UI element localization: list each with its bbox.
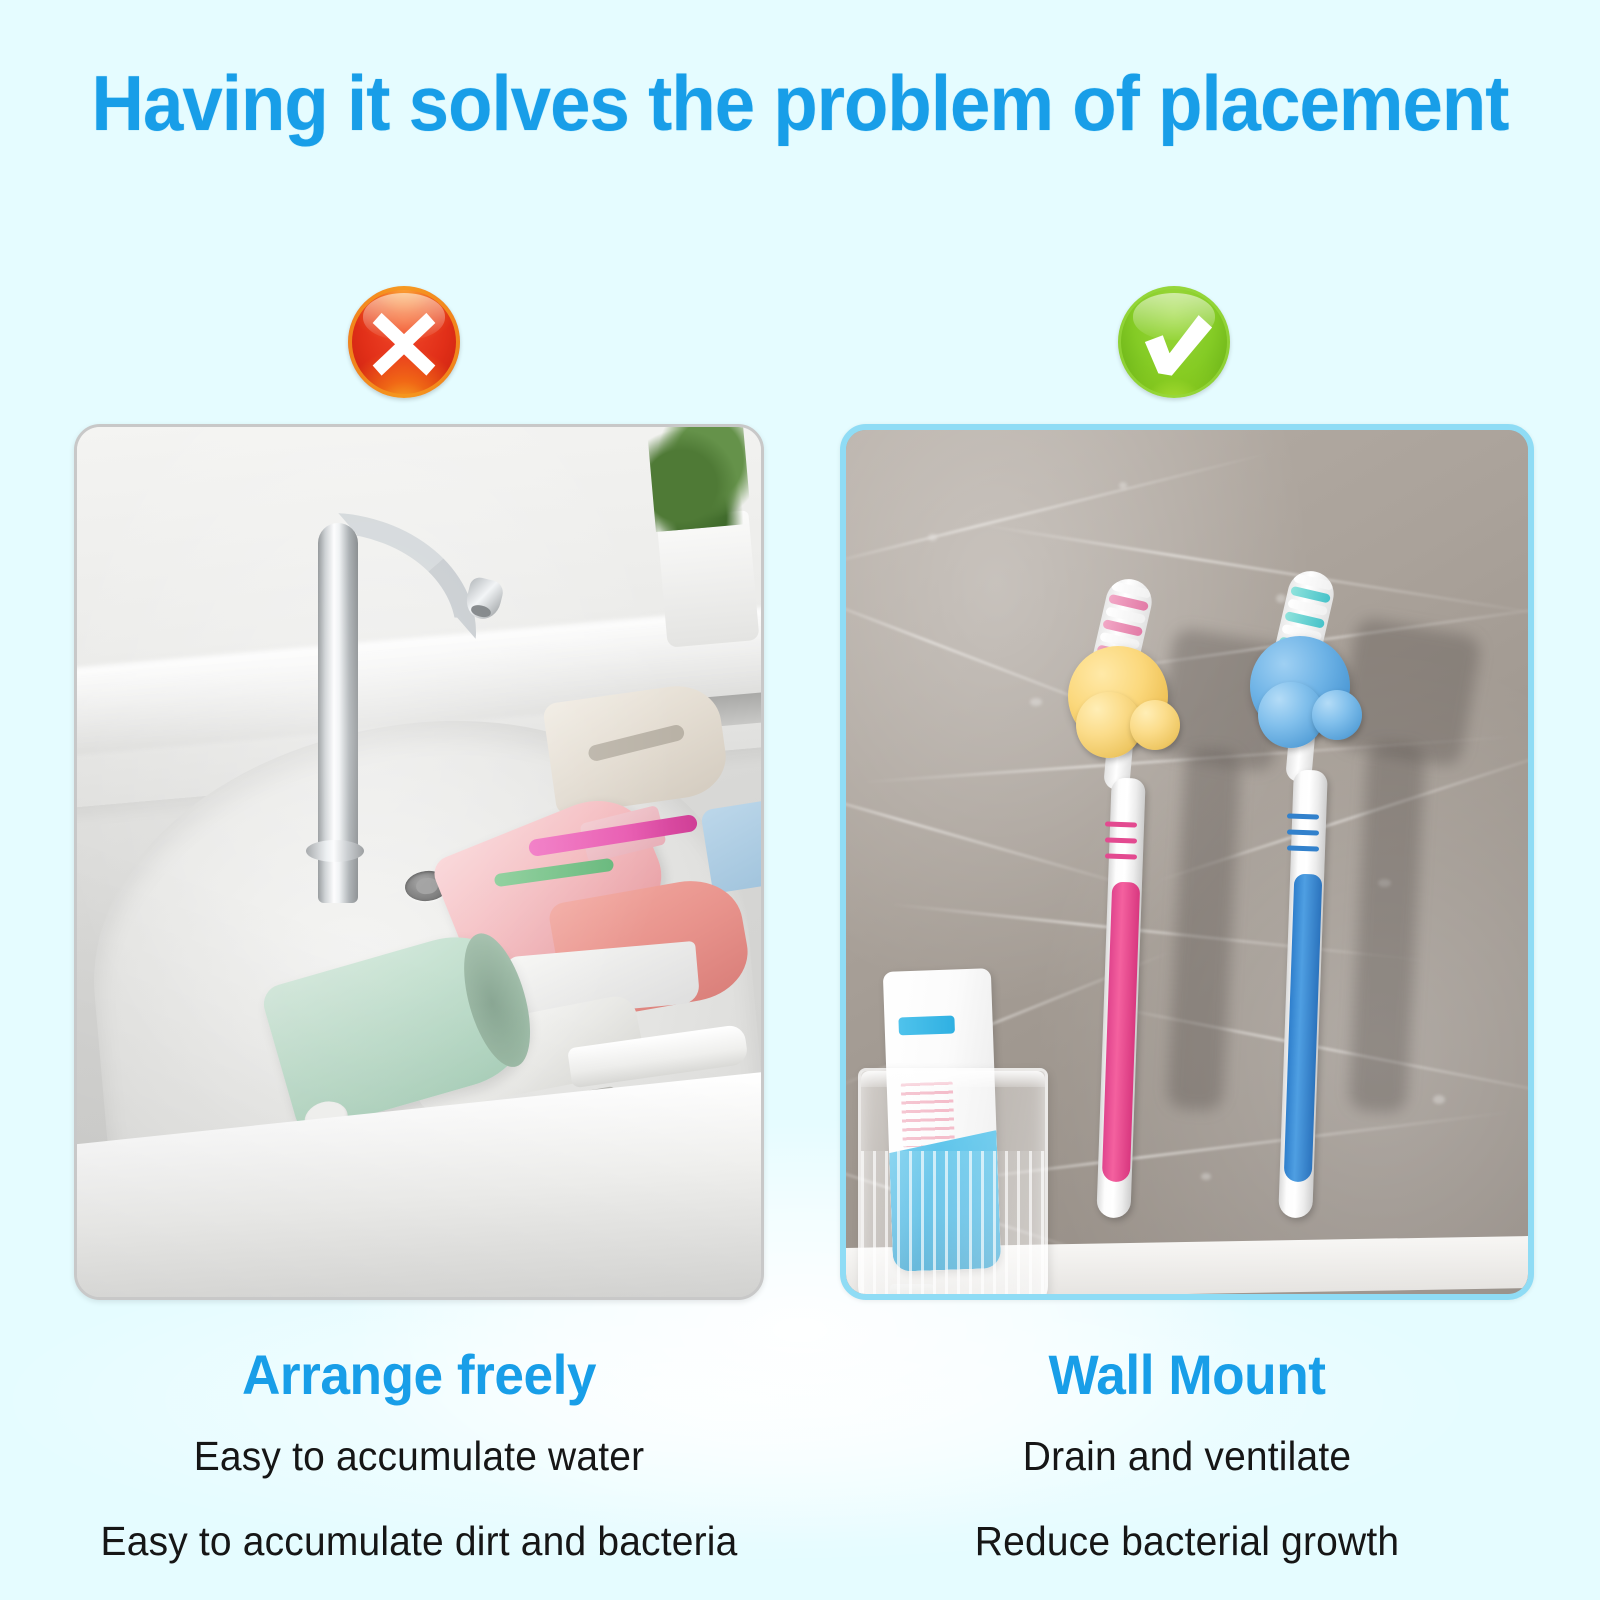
toothpaste-logo xyxy=(898,1016,955,1036)
caption-good: Wall Mount Drain and ventilate Reduce ba… xyxy=(842,1342,1532,1565)
comparison-column-bad xyxy=(74,424,764,1300)
toothbrush-blue-ring-2 xyxy=(1287,829,1319,835)
check-icon xyxy=(1118,286,1230,398)
toothbrush-blue-ring-1 xyxy=(1287,813,1319,819)
holder-clip-blue-lobe-2 xyxy=(1312,690,1362,740)
caption-good-line-2: Reduce bacterial growth xyxy=(859,1518,1515,1565)
caption-bad-line-1: Easy to accumulate water xyxy=(91,1433,747,1480)
wall-mount-photo xyxy=(840,424,1534,1300)
check-badge xyxy=(1118,286,1230,398)
caption-bad-line-2: Easy to accumulate dirt and bacteria xyxy=(91,1518,747,1565)
holder-clip-blue[interactable] xyxy=(1250,636,1380,766)
drinking-glass xyxy=(858,1068,1048,1294)
toothbrush-blue-ring-3 xyxy=(1287,845,1319,851)
sink-clutter-photo xyxy=(74,424,764,1300)
beige-cup-slot xyxy=(586,723,685,762)
toothbrush-pink-ring-1 xyxy=(1105,821,1137,827)
holder-clip-yellow[interactable] xyxy=(1068,646,1198,776)
holder-clip-yellow-lobe-2 xyxy=(1130,700,1180,750)
caption-bad-title: Arrange freely xyxy=(91,1342,747,1407)
caption-good-line-1: Drain and ventilate xyxy=(859,1433,1515,1480)
caption-bad: Arrange freely Easy to accumulate water … xyxy=(74,1342,764,1565)
drinking-glass-ribs xyxy=(861,1151,1045,1294)
drinking-glass-rim xyxy=(861,1071,1045,1087)
cross-icon xyxy=(348,286,460,398)
page-title: Having it solves the problem of placemen… xyxy=(56,58,1544,149)
comparison-column-good xyxy=(840,424,1530,1300)
plant-leaves-icon xyxy=(647,427,752,532)
toothbrush-pink-ring-2 xyxy=(1105,837,1137,843)
cross-badge xyxy=(348,286,460,398)
plant-pot xyxy=(657,510,760,648)
toothbrush-pink-ring-3 xyxy=(1105,853,1137,859)
caption-good-title: Wall Mount xyxy=(859,1342,1515,1407)
